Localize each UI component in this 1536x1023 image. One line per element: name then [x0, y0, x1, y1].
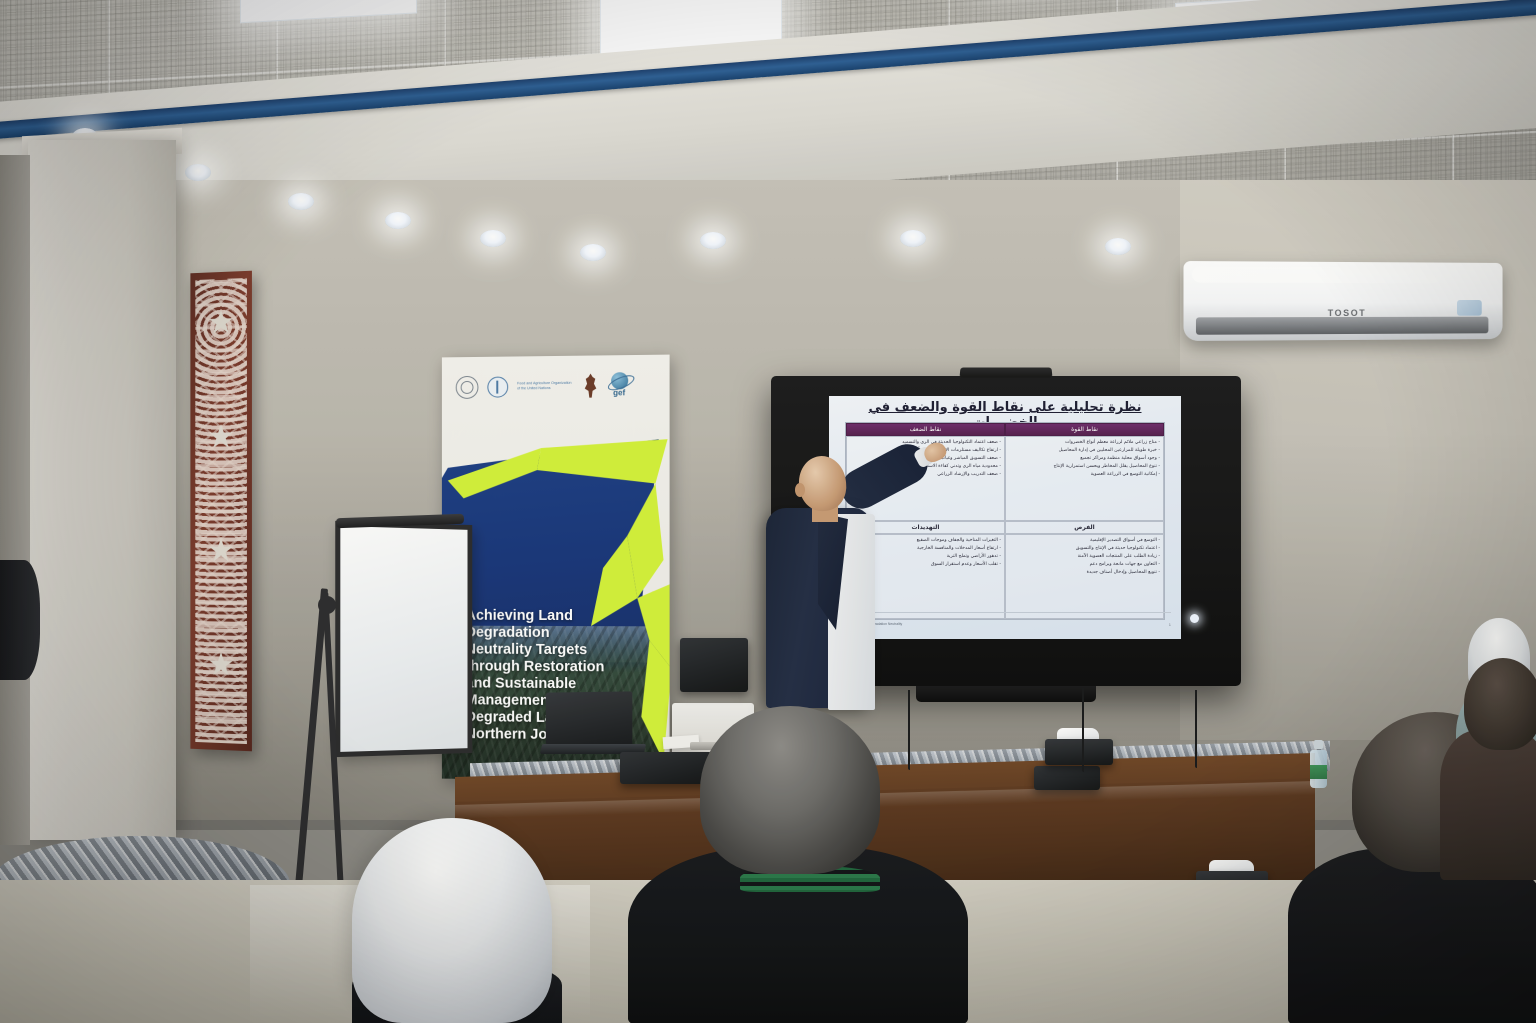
swot-bullet: - التعاون مع جهات مانحة وبرامج دعم [1009, 561, 1160, 569]
water-bottle [1310, 740, 1327, 788]
swot-cell-opportunities: - التوسع في أسواق التصدير الإقليمية- اعت… [1005, 534, 1164, 619]
display-cable [1195, 690, 1197, 768]
display-camera-bar-icon [960, 367, 1053, 377]
swot-bullet: - إمكانية التوسع في الزراعة العضوية [1009, 471, 1160, 479]
audience-headscarf [352, 818, 552, 1023]
laptop-lid [546, 691, 633, 746]
ac-air-vent [1196, 317, 1488, 335]
fao-logo-icon [487, 376, 508, 397]
recessed-downlight [580, 244, 606, 261]
gef-logo-icon: gef [608, 372, 634, 398]
flipchart-board[interactable] [335, 521, 472, 757]
slide-footer: Land Degradation Neutrality 1 [839, 612, 1171, 635]
ac-badge-icon [1457, 300, 1482, 316]
speaker-box [620, 752, 712, 784]
display-cable [908, 690, 910, 770]
audience-head [700, 706, 880, 874]
display-cable [1082, 688, 1084, 772]
display-power-indicator-icon [1190, 614, 1199, 623]
swot-bullet: - التوسع في أسواق التصدير الإقليمية [1009, 537, 1160, 545]
conference-room-scene: TOSOT نظرة تحليلية على نقاط القوة والضعف… [0, 0, 1536, 1023]
display-screen[interactable]: نظرة تحليلية على نقاط القوة والضعف في ال… [829, 396, 1181, 639]
tissue-box [1045, 730, 1113, 770]
jordan-coat-of-arms-icon [582, 374, 599, 398]
recessed-downlight [480, 230, 506, 247]
audience-head [1464, 658, 1536, 750]
mashrabiya-wall-panel [190, 271, 252, 752]
swot-cell-strengths: - مناخ زراعي ملائم لزراعة معظم أنواع الخ… [1005, 436, 1164, 521]
air-conditioner-unit: TOSOT [1183, 261, 1502, 341]
tissue-box-body [1045, 739, 1113, 765]
mashrabiya-lattice-pattern [195, 278, 247, 744]
swot-header-weaknesses: نقاط الضعف [846, 423, 1005, 436]
presenter-ear [795, 483, 805, 497]
audience-torso [1440, 730, 1536, 880]
recessed-downlight [385, 212, 411, 229]
laptop[interactable] [543, 692, 639, 758]
foreground-silhouette [0, 560, 40, 680]
swot-bullet: - مناخ زراعي ملائم لزراعة معظم أنواع الخ… [1009, 439, 1160, 447]
fao-logo-label: Food and Agriculture Organization of the… [517, 381, 573, 391]
column-pillar [28, 140, 176, 840]
swot-bullet: - زيادة الطلب على المنتجات العضوية الآمن… [1009, 553, 1160, 561]
bottle-label [1310, 765, 1327, 779]
ac-gloss-highlight [1192, 266, 1442, 283]
bottle-cap [1314, 740, 1323, 749]
recessed-downlight [900, 230, 926, 247]
display-stand [916, 686, 1096, 702]
flipchart-knob-icon[interactable] [318, 596, 336, 614]
swot-bullet: - تنوع المحاصيل يقلل المخاطر ويحسن استمر… [1009, 463, 1160, 471]
recessed-downlight [700, 232, 726, 249]
slide-page-number: 1 [1169, 622, 1171, 627]
gef-logo-label: gef [613, 388, 625, 397]
pillar-side-face [0, 155, 30, 845]
recessed-downlight [185, 164, 211, 181]
banner-logo-strip: Food and Agriculture Organization of the… [456, 372, 658, 400]
swot-header-strengths: نقاط القوة [1005, 423, 1164, 436]
swot-bullet: - تنويع المحاصيل وإدخال أصناف جديدة [1009, 569, 1160, 577]
speaker-box [680, 638, 748, 692]
recessed-downlight [1105, 238, 1131, 255]
swot-bullet: - خبرة طويلة للمزارعين المحليين في إدارة… [1009, 447, 1160, 455]
ministry-emblem-icon [456, 375, 479, 398]
recessed-downlight [288, 193, 314, 210]
swot-bullet: - وجود أسواق محلية منظمة ومراكز تجميع [1009, 455, 1160, 463]
swot-bullet: - اعتماد تكنولوجيا حديثة في الإنتاج والت… [1009, 545, 1160, 553]
swot-header-opportunities: الفرص [1005, 521, 1164, 534]
